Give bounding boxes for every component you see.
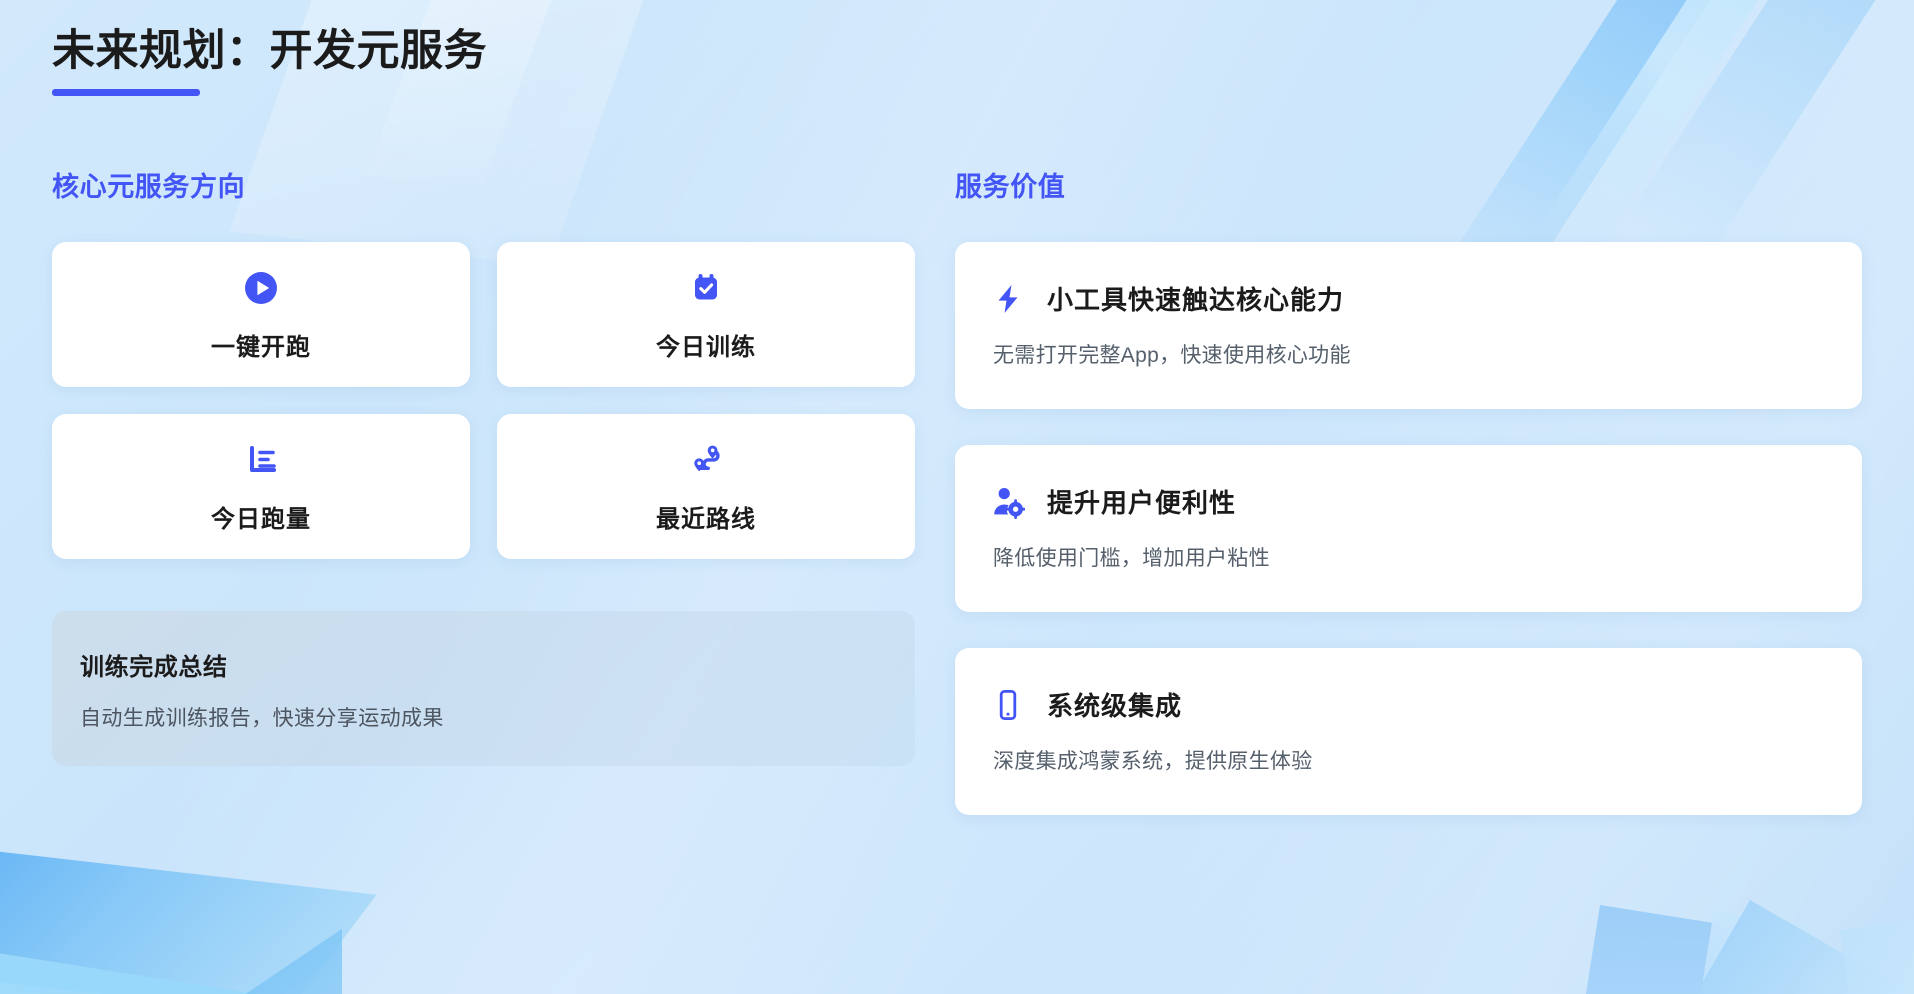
feature-label: 今日跑量	[211, 499, 311, 534]
user-gear-icon	[991, 485, 1025, 519]
feature-card-today-training[interactable]: 今日训练	[497, 242, 915, 387]
section-heading-service-value: 服务价值	[955, 165, 1862, 204]
cube-front-face	[0, 934, 280, 994]
feature-label: 最近路线	[656, 499, 756, 534]
slab-decoration-four	[1840, 902, 1914, 994]
value-title: 提升用户便利性	[1047, 483, 1236, 520]
value-card-quick-access[interactable]: 小工具快速触达核心能力 无需打开完整App，快速使用核心功能	[955, 242, 1862, 409]
value-description: 无需打开完整App，快速使用核心功能	[991, 339, 1826, 369]
slab-decoration-three	[1695, 900, 1914, 994]
value-card-list: 小工具快速触达核心能力 无需打开完整App，快速使用核心功能	[955, 242, 1862, 815]
two-column-layout: 核心元服务方向 一键开跑	[0, 165, 1914, 815]
cube-side-face	[232, 929, 342, 994]
slab-decoration-two	[1670, 910, 1809, 994]
slab-decoration-one	[1553, 905, 1718, 994]
cube-top-face	[0, 845, 377, 994]
route-map-icon	[686, 440, 726, 480]
feature-card-recent-route[interactable]: 最近路线	[497, 414, 915, 559]
slide-header: 未来规划：开发元服务	[52, 26, 487, 96]
value-card-header: 提升用户便利性	[991, 483, 1826, 520]
value-card-header: 小工具快速触达核心能力	[991, 280, 1826, 317]
page-title: 未来规划：开发元服务	[52, 26, 487, 77]
slide-page: 未来规划：开发元服务 核心元服务方向 一键开跑	[0, 0, 1914, 994]
cube-decoration-bottom-left	[0, 870, 400, 994]
mobile-phone-icon	[991, 688, 1025, 722]
title-underline	[52, 89, 200, 96]
feature-card-today-distance[interactable]: 今日跑量	[52, 414, 470, 559]
summary-description: 自动生成训练报告，快速分享运动成果	[80, 702, 887, 732]
lightning-bolt-icon	[991, 282, 1025, 316]
section-heading-core-directions: 核心元服务方向	[52, 165, 955, 204]
feature-card-grid: 一键开跑 今日训练	[52, 242, 955, 559]
value-description: 深度集成鸿蒙系统，提供原生体验	[991, 745, 1826, 775]
bar-chart-icon	[241, 440, 281, 480]
value-card-system-integration[interactable]: 系统级集成 深度集成鸿蒙系统，提供原生体验	[955, 648, 1862, 815]
feature-label: 一键开跑	[211, 327, 311, 362]
feature-card-one-tap-run[interactable]: 一键开跑	[52, 242, 470, 387]
value-title: 系统级集成	[1047, 686, 1182, 723]
right-column: 服务价值 小工具快速触达核心能力 无需打开完整App，快速使用核	[955, 165, 1914, 815]
left-column: 核心元服务方向 一键开跑	[0, 165, 955, 766]
feature-label: 今日训练	[656, 327, 756, 362]
training-summary-panel: 训练完成总结 自动生成训练报告，快速分享运动成果	[52, 611, 915, 766]
calendar-check-icon	[686, 268, 726, 308]
value-card-user-convenience[interactable]: 提升用户便利性 降低使用门槛，增加用户粘性	[955, 445, 1862, 612]
value-description: 降低使用门槛，增加用户粘性	[991, 542, 1826, 572]
value-card-header: 系统级集成	[991, 686, 1826, 723]
summary-title: 训练完成总结	[80, 647, 887, 682]
play-circle-icon	[241, 268, 281, 308]
value-title: 小工具快速触达核心能力	[1047, 280, 1344, 317]
